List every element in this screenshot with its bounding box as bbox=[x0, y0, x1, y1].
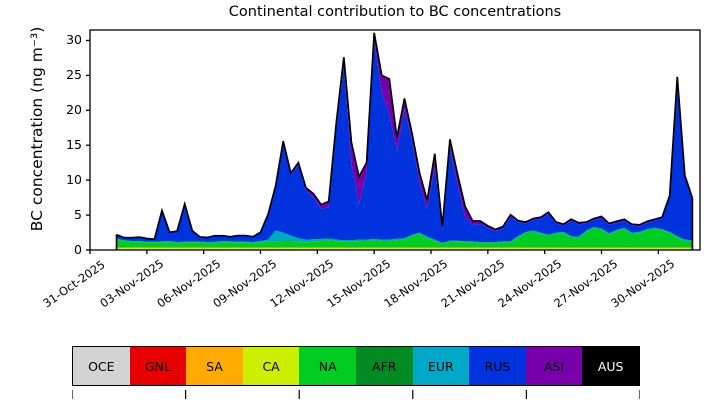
legend-item-sa[interactable]: SA bbox=[186, 347, 243, 385]
legend-item-label: CA bbox=[262, 359, 279, 374]
legend-item-eur[interactable]: EUR bbox=[413, 347, 470, 385]
legend-item-rus[interactable]: RUS bbox=[469, 347, 526, 385]
y-tick-label: 5 bbox=[42, 207, 82, 222]
legend-item-label: SA bbox=[206, 359, 223, 374]
y-tick-label: 20 bbox=[42, 102, 82, 117]
legend-item-ca[interactable]: CA bbox=[243, 347, 300, 385]
y-tick-label: 30 bbox=[42, 32, 82, 47]
legend-item-label: RUS bbox=[485, 359, 511, 374]
legend-item-label: AUS bbox=[598, 359, 624, 374]
legend-item-asi[interactable]: ASI bbox=[526, 347, 583, 385]
legend-item-label: ASI bbox=[544, 359, 564, 374]
area-series-rus bbox=[117, 40, 693, 243]
legend-item-gnl[interactable]: GNL bbox=[130, 347, 187, 385]
legend-item-afr[interactable]: AFR bbox=[356, 347, 413, 385]
legend-item-label: OCE bbox=[88, 359, 114, 374]
legend-item-label: EUR bbox=[428, 359, 454, 374]
legend-item-aus[interactable]: AUS bbox=[582, 347, 639, 385]
page-title: Continental contribution to BC concentra… bbox=[90, 4, 700, 20]
legend-item-oce[interactable]: OCE bbox=[73, 347, 130, 385]
y-axis-label: BC concentration (ng m⁻³) bbox=[0, 0, 30, 270]
area-series-ca bbox=[117, 248, 693, 250]
y-tick-label: 25 bbox=[42, 67, 82, 82]
legend-item-label: AFR bbox=[372, 359, 396, 374]
legend: OCEGNLSACANAAFREURRUSASIAUS bbox=[72, 346, 640, 386]
bottom-axis-ticks bbox=[72, 390, 640, 402]
y-tick-label: 0 bbox=[42, 242, 82, 257]
legend-item-label: GNL bbox=[145, 359, 171, 374]
y-tick-label: 15 bbox=[42, 137, 82, 152]
legend-item-label: NA bbox=[319, 359, 337, 374]
y-tick-label: 10 bbox=[42, 172, 82, 187]
stacked-area-chart bbox=[0, 0, 713, 402]
legend-item-na[interactable]: NA bbox=[299, 347, 356, 385]
figure-container: Continental contribution to BC concentra… bbox=[0, 0, 713, 402]
